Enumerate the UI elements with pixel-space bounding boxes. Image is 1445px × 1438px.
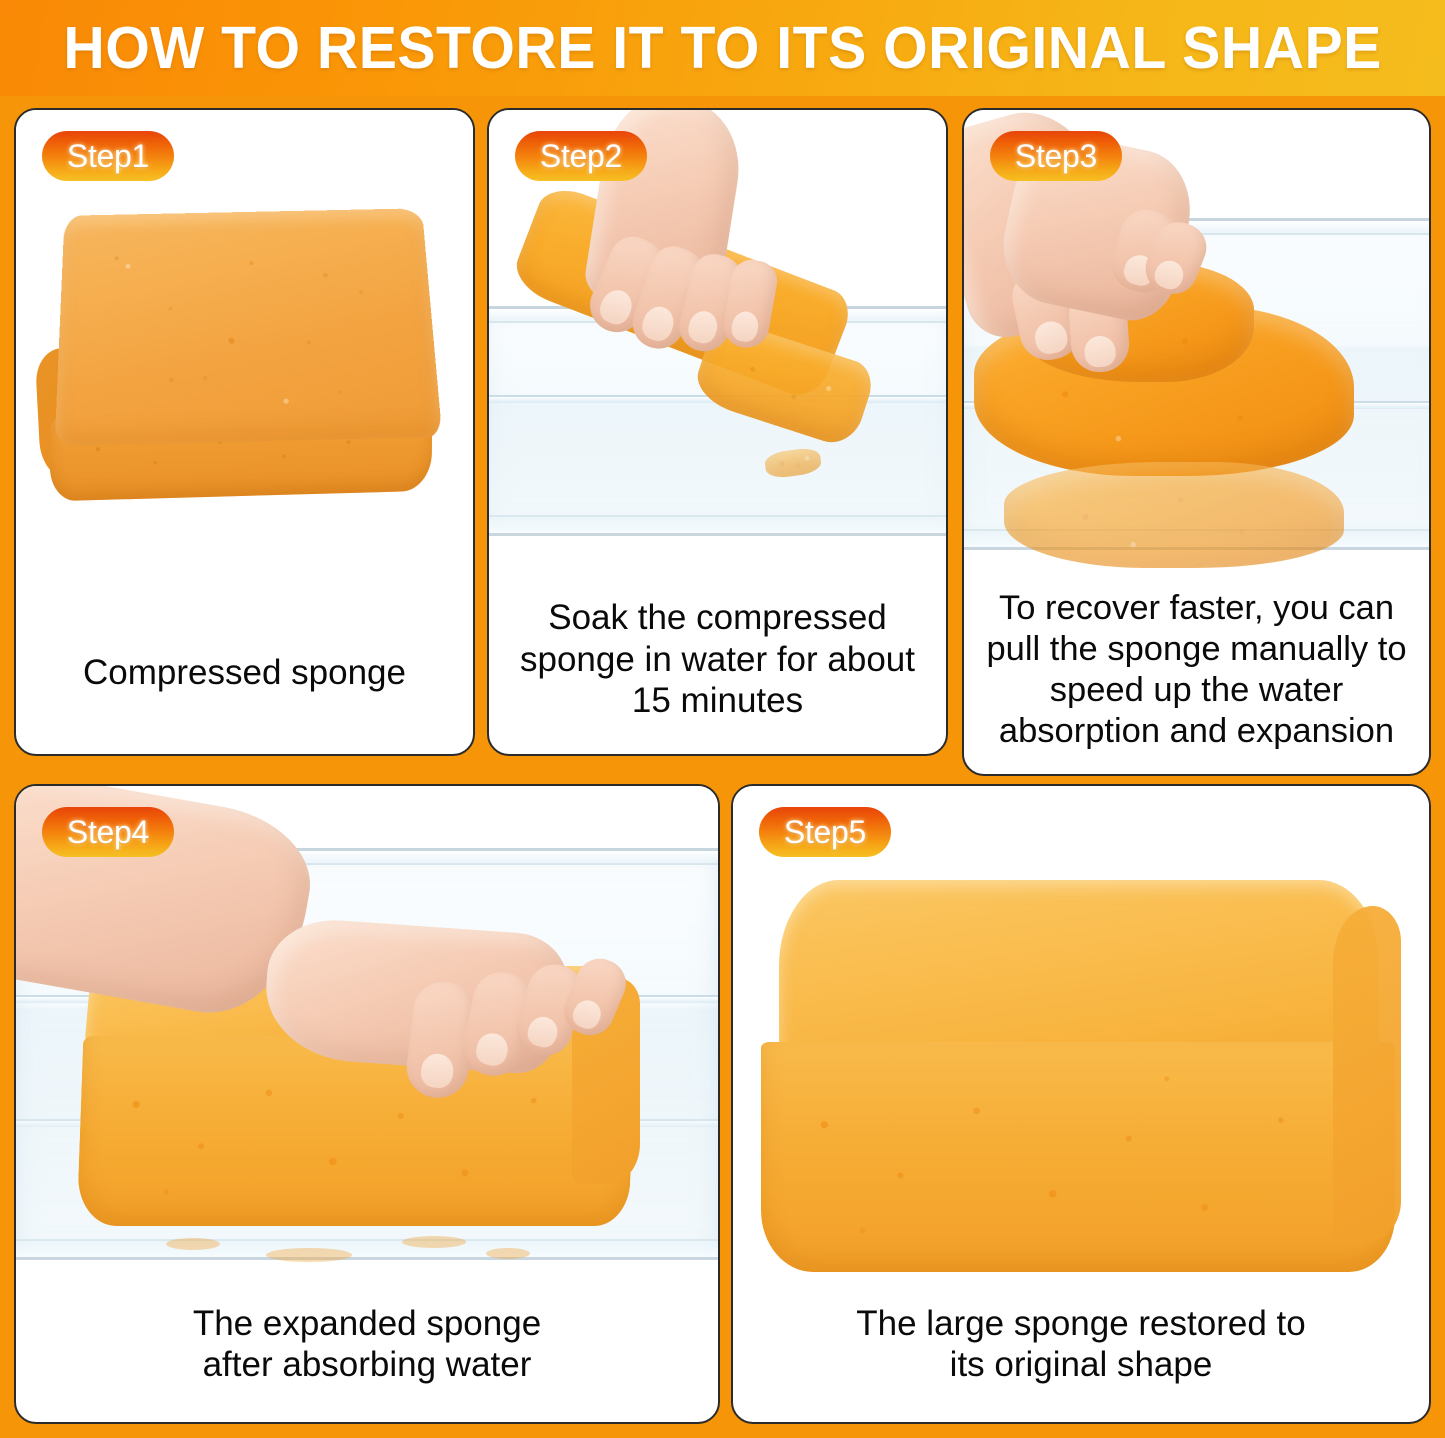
step-2-illustration [489,110,946,610]
step-card-4: Step4 [14,784,720,1424]
step-badge-3: Step3 [990,131,1122,181]
compressed-sponge-slab [36,198,456,558]
fingernail [1151,256,1187,292]
step-caption-2: Soak the compressed sponge in water for … [489,597,946,722]
fingernail [730,309,761,343]
infographic-page: HOW TO RESTORE IT TO ITS ORIGINAL SHAPE … [0,0,1445,1438]
sponge-side-face [1333,906,1401,1242]
fingernail [525,1013,562,1050]
water-splash [402,1236,466,1248]
step-4-illustration [16,786,718,1316]
tray-rim-bottom [16,1239,718,1257]
step-caption-4: The expanded sponge after absorbing wate… [16,1303,718,1386]
step-badge-5: Step5 [759,807,891,857]
step-badge-label: Step3 [1015,140,1097,172]
fingernail [596,285,637,328]
header-banner: HOW TO RESTORE IT TO ITS ORIGINAL SHAPE [0,0,1445,96]
step-badge-1: Step1 [42,131,174,181]
step-badge-label: Step4 [67,816,149,848]
tray-rim-bottom [489,515,946,533]
sponge-top-face [779,880,1379,1066]
step-3-illustration [964,110,1429,600]
fingernail [1032,318,1070,356]
fingernail [474,1030,511,1068]
step-badge-label: Step5 [784,816,866,848]
step-card-2: Step2 [487,108,948,756]
step-caption-3: To recover faster, you can pull the spon… [964,588,1429,752]
step-badge-label: Step1 [67,140,149,172]
water-splash [266,1248,352,1262]
step-1-illustration [16,110,473,670]
step-badge-2: Step2 [515,131,647,181]
page-title: HOW TO RESTORE IT TO ITS ORIGINAL SHAPE [63,19,1381,78]
step-card-3: Step3 [962,108,1431,776]
sponge-top-face [55,208,443,446]
step-card-5: Step5 The large sponge restored to its o… [731,784,1431,1424]
fingernail [686,308,721,346]
sponge-front-face [761,1042,1395,1272]
step-badge-4: Step4 [42,807,174,857]
fingernail [1084,335,1117,368]
step-card-1: Step1 Compressed sponge [14,108,475,756]
fingernail [638,303,677,345]
step-5-illustration [733,786,1429,1316]
step-caption-5: The large sponge restored to its origina… [733,1303,1429,1386]
water-splash [486,1248,530,1259]
sponge-front-face [77,1036,636,1226]
step-caption-1: Compressed sponge [16,652,473,694]
fingernail [419,1052,455,1090]
fingernail [569,996,605,1032]
step-badge-label: Step2 [540,140,622,172]
wet-sponge-submerged [1004,462,1344,568]
water-splash [166,1238,220,1250]
